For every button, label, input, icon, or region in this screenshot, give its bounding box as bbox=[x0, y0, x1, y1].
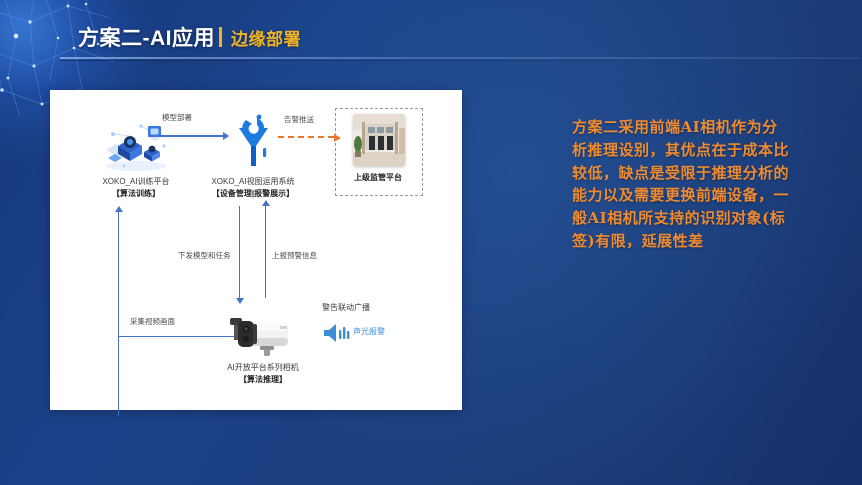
page-subtitle: 边缘部署 bbox=[231, 25, 301, 50]
monitoring-room-photo bbox=[353, 114, 405, 166]
header-divider bbox=[60, 57, 860, 59]
arrow-collect-video-head bbox=[118, 212, 119, 314]
header-divider-shadow bbox=[60, 60, 860, 61]
xoko-y-logo-icon bbox=[230, 112, 274, 170]
slide-title: 方案二-AI应用 边缘部署 bbox=[78, 22, 301, 52]
diagram-panel: XOKO_AI训练平台 【算法训练】 模型部署 XOKO_AI视图运用系统 【设… bbox=[50, 90, 462, 410]
annotation-audible-visual-alarm: 声光报警 bbox=[353, 326, 385, 337]
node-label-training-platform: XOKO_AI训练平台 【算法训练】 bbox=[80, 176, 192, 200]
node-label-view-system: XOKO_AI视图运用系统 【设备管理|报警展示】 bbox=[190, 176, 316, 200]
arrow-collect-video-vertical bbox=[118, 312, 119, 416]
arrow-alarm-push bbox=[278, 136, 334, 138]
edge-label-report-alert-info: 上报预警信息 bbox=[272, 250, 317, 261]
arrow-report-alert-info bbox=[265, 206, 266, 298]
edge-label-alarm-push: 告警推送 bbox=[284, 114, 314, 125]
annotation-alarm-broadcast: 警告联动广播 bbox=[322, 302, 370, 313]
slide-canvas: 方案二-AI应用 边缘部署 bbox=[0, 0, 862, 485]
arrow-dispatch-model-task bbox=[239, 206, 240, 298]
bullet-camera-photo bbox=[220, 312, 304, 360]
edge-label-collect-video: 采集视频画面 bbox=[130, 316, 175, 327]
arrow-collect-video-horizontal bbox=[118, 336, 234, 337]
arrow-model-deploy bbox=[160, 135, 228, 137]
node-label-supervision-platform: 上级监管平台 bbox=[336, 172, 420, 184]
node-label-ai-camera: AI开放平台系列相机 【算法推理】 bbox=[202, 362, 324, 386]
edge-label-model-deploy: 模型部署 bbox=[162, 112, 192, 123]
title-separator-bar bbox=[219, 27, 222, 47]
edge-label-dispatch-model-task: 下发模型和任务 bbox=[178, 250, 231, 261]
speaker-icon bbox=[322, 322, 352, 344]
description-text: 方案二采用前端AI相机作为分析推理设别，其优点在于成本比较低，缺点是受限于推理分… bbox=[572, 116, 790, 253]
ai-training-illustration-icon bbox=[100, 120, 172, 172]
page-title: 方案二-AI应用 bbox=[78, 22, 215, 52]
